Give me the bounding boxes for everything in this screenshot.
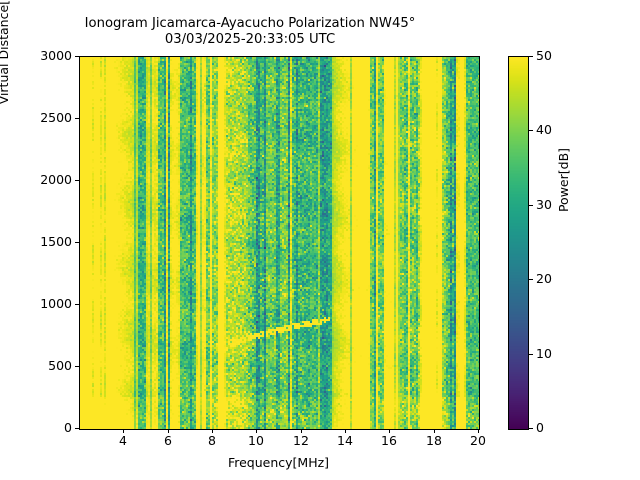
title-line-2: 03/03/2025-20:33:05 UTC bbox=[0, 32, 500, 48]
x-tick-label: 20 bbox=[448, 433, 508, 448]
x-tick-mark bbox=[212, 429, 213, 433]
x-tick-mark bbox=[123, 429, 124, 433]
y-tick-mark bbox=[75, 242, 79, 243]
x-tick-mark bbox=[389, 429, 390, 433]
colorbar-tick-mark bbox=[529, 56, 533, 57]
y-tick-label: 1000 bbox=[0, 296, 72, 311]
colorbar-tick-mark bbox=[529, 205, 533, 206]
ionogram-plot-area bbox=[79, 56, 480, 430]
x-tick-mark bbox=[301, 429, 302, 433]
colorbar-tick-mark bbox=[529, 428, 533, 429]
y-tick-label: 3000 bbox=[0, 48, 72, 63]
y-tick-mark bbox=[75, 304, 79, 305]
colorbar-tick-mark bbox=[529, 279, 533, 280]
colorbar-tick-label: 40 bbox=[536, 122, 596, 137]
ionogram-figure: Ionogram Jicamarca-Ayacucho Polarization… bbox=[0, 0, 640, 480]
y-tick-label: 500 bbox=[0, 358, 72, 373]
colorbar-label: Power[dB] bbox=[556, 60, 571, 300]
y-tick-label: 0 bbox=[0, 420, 72, 435]
figure-title: Ionogram Jicamarca-Ayacucho Polarization… bbox=[0, 16, 500, 48]
y-tick-mark bbox=[75, 56, 79, 57]
x-tick-mark bbox=[345, 429, 346, 433]
x-tick-mark bbox=[256, 429, 257, 433]
colorbar bbox=[508, 56, 529, 430]
y-tick-mark bbox=[75, 180, 79, 181]
y-tick-mark bbox=[75, 366, 79, 367]
y-tick-mark bbox=[75, 428, 79, 429]
colorbar-tick-label: 50 bbox=[536, 48, 596, 63]
x-tick-mark bbox=[168, 429, 169, 433]
x-tick-mark bbox=[434, 429, 435, 433]
colorbar-tick-label: 30 bbox=[536, 197, 596, 212]
colorbar-tick-label: 0 bbox=[536, 420, 596, 435]
title-line-1: Ionogram Jicamarca-Ayacucho Polarization… bbox=[0, 16, 500, 32]
y-tick-label: 1500 bbox=[0, 234, 72, 249]
x-axis-label: Frequency[MHz] bbox=[79, 455, 478, 470]
y-tick-label: 2500 bbox=[0, 110, 72, 125]
y-tick-label: 2000 bbox=[0, 172, 72, 187]
ionogram-heatmap-canvas bbox=[80, 57, 479, 429]
colorbar-tick-label: 20 bbox=[536, 271, 596, 286]
y-tick-mark bbox=[75, 118, 79, 119]
colorbar-tick-label: 10 bbox=[536, 346, 596, 361]
colorbar-gradient bbox=[509, 57, 528, 429]
colorbar-tick-mark bbox=[529, 354, 533, 355]
x-tick-mark bbox=[478, 429, 479, 433]
colorbar-tick-mark bbox=[529, 130, 533, 131]
